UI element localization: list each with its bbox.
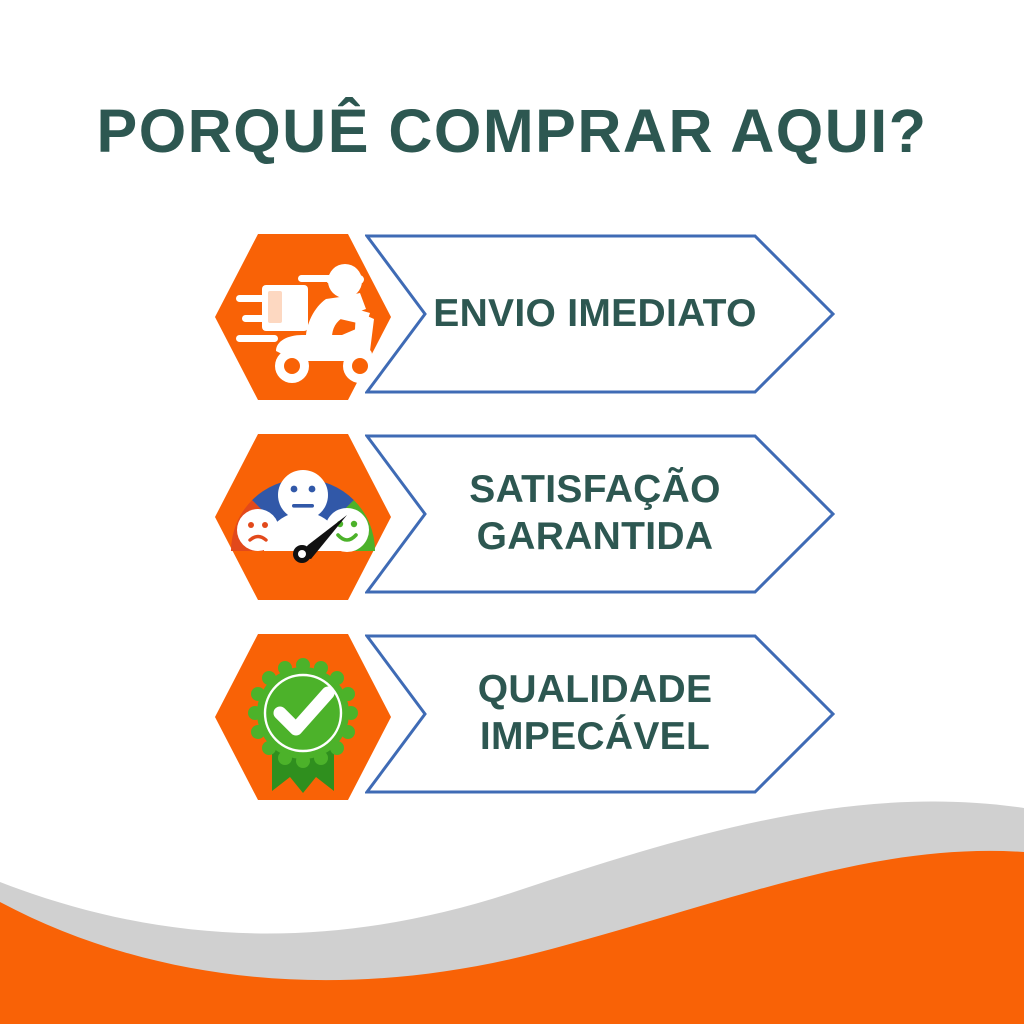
feature-label-3: QUALIDADE IMPECÁVEL xyxy=(395,633,795,793)
feature-label-2-line1: SATISFAÇÃO xyxy=(469,466,720,513)
page-title: PORQUÊ COMPRAR AQUI? xyxy=(0,98,1024,164)
feature-row-2: SATISFAÇÃO GARANTIDA xyxy=(0,433,1024,601)
bottom-wave-decoration xyxy=(0,794,1024,1024)
feature-label-3-line2: IMPECÁVEL xyxy=(480,713,710,760)
feature-row-1: ENVIO IMEDIATO xyxy=(0,233,1024,401)
feature-hexagon-3 xyxy=(214,633,392,801)
feature-hexagon-1 xyxy=(214,233,392,401)
feature-row-3: QUALIDADE IMPECÁVEL xyxy=(0,633,1024,801)
feature-label-1-line1: ENVIO IMEDIATO xyxy=(433,290,756,337)
feature-label-2-line2: GARANTIDA xyxy=(477,513,714,560)
feature-hexagon-2 xyxy=(214,433,392,601)
feature-label-3-line1: QUALIDADE xyxy=(478,666,713,713)
infographic-poster: PORQUÊ COMPRAR AQUI? ENVIO IMEDIATO xyxy=(0,0,1024,1024)
feature-label-2: SATISFAÇÃO GARANTIDA xyxy=(395,433,795,593)
feature-label-1: ENVIO IMEDIATO xyxy=(395,233,795,393)
